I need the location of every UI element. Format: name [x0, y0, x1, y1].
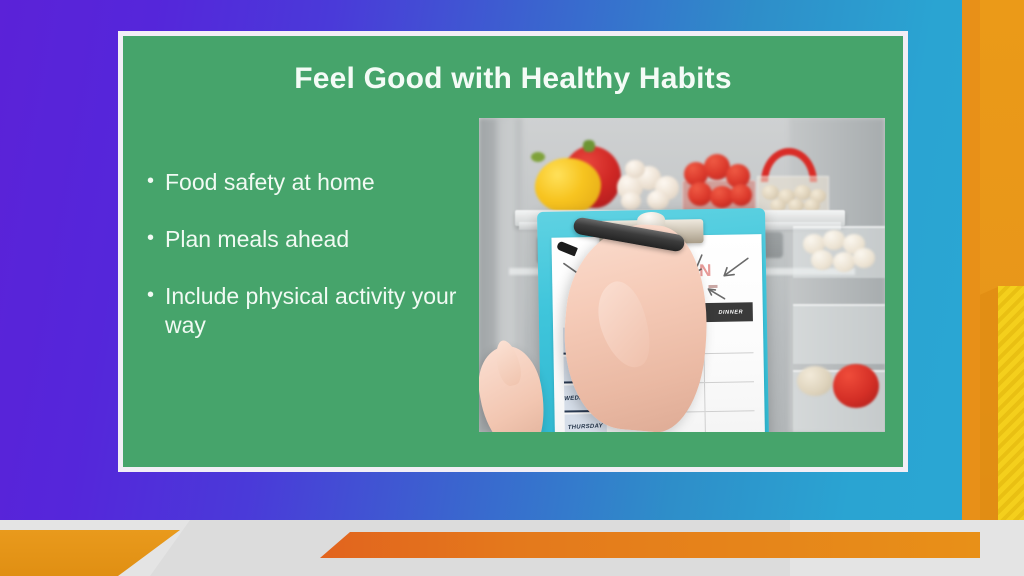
orange-frame-side: [962, 38, 980, 558]
table-cell: [704, 324, 753, 353]
table-cell: [705, 382, 754, 411]
eggs: [801, 230, 881, 274]
list-item-label: Plan meals ahead: [165, 225, 477, 254]
broadcast-screen: Feel Good with Healthy Habits • Food saf…: [0, 0, 1024, 576]
bullet-marker-icon: •: [147, 168, 165, 196]
tomatoes: [684, 152, 754, 214]
bullet-marker-icon: •: [147, 282, 165, 310]
right-hand-thumb: [588, 276, 660, 374]
egg-tray: [757, 176, 829, 214]
yellow-bell-pepper: [535, 158, 601, 214]
red-pepper-stem: [583, 140, 595, 152]
day-text: THURSDAY: [568, 423, 604, 431]
list-item: • Food safety at home: [147, 168, 477, 197]
slide-body: Feel Good with Healthy Habits • Food saf…: [123, 36, 903, 467]
column-header-dinner: DINNER: [709, 309, 753, 316]
fridge-door-bin: [793, 304, 885, 364]
list-item-label: Food safety at home: [165, 168, 477, 197]
slide-frame: Feel Good with Healthy Habits • Food saf…: [118, 31, 908, 472]
tomato: [833, 364, 879, 408]
bullet-list: • Food safety at home • Plan meals ahead…: [147, 168, 477, 368]
yellow-pepper-stem: [531, 152, 545, 162]
bullet-marker-icon: •: [147, 225, 165, 253]
bottom-right-orange-band: [320, 532, 980, 558]
table-cell: [705, 353, 754, 382]
page-title: Feel Good with Healthy Habits: [123, 62, 903, 96]
orange-frame-top: [962, 0, 980, 40]
list-item-label: Include physical activity your way: [165, 282, 477, 340]
mushrooms: [615, 158, 679, 214]
list-item: • Plan meals ahead: [147, 225, 477, 254]
meal-plan-photo: MEAL PLAN: [479, 118, 885, 432]
table-cell: [706, 411, 755, 432]
list-item: • Include physical activity your way: [147, 282, 477, 340]
garlic-bulb: [797, 366, 833, 396]
